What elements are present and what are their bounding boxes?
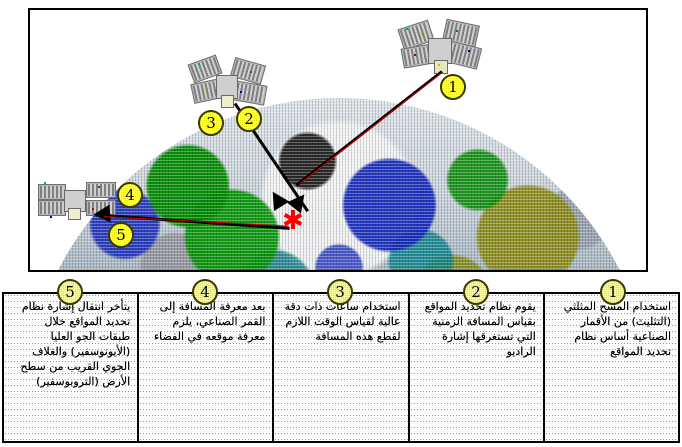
callout-5[interactable]: 5 bbox=[108, 222, 134, 248]
step-cell-5: يتأخر انتقال إشارة نظام تحديد المواقع خل… bbox=[4, 294, 137, 441]
step-text-4: بعد معرفة المسافة إلى القمر الصناعي، يلز… bbox=[146, 299, 265, 344]
step-text-3: استخدام ساعات ذات دقة عالية لقياس الوقت … bbox=[281, 299, 400, 344]
step-text-1: استخدام المسح المثلثي (التثليث) من الأقم… bbox=[552, 299, 671, 359]
callout-1[interactable]: 1 bbox=[440, 74, 466, 100]
column-callout-5[interactable]: 5 bbox=[57, 279, 83, 305]
diagram-root: ✱ 1 2 3 4 5 5 4 3 2 1 يتأخر انتقال إشارة… bbox=[0, 0, 682, 447]
ground-receiver-marker: ✱ bbox=[282, 208, 304, 234]
step-text-2: يقوم نظام تحديد المواقع بقياس المسافة ال… bbox=[417, 299, 536, 359]
step-text-5: يتأخر انتقال إشارة نظام تحديد المواقع خل… bbox=[11, 299, 130, 389]
column-callout-1[interactable]: 1 bbox=[600, 279, 626, 305]
satellite-2 bbox=[188, 57, 270, 115]
step-cell-1: استخدام المسح المثلثي (التثليث) من الأقم… bbox=[543, 294, 678, 441]
column-callout-3[interactable]: 3 bbox=[327, 279, 353, 305]
callout-3[interactable]: 3 bbox=[198, 110, 224, 136]
step-cell-3: استخدام ساعات ذات دقة عالية لقياس الوقت … bbox=[272, 294, 407, 441]
step-cell-2: يقوم نظام تحديد المواقع بقياس المسافة ال… bbox=[408, 294, 543, 441]
step-cell-4: بعد معرفة المسافة إلى القمر الصناعي، يلز… bbox=[137, 294, 272, 441]
arrow-head-3 bbox=[93, 205, 111, 224]
callout-4[interactable]: 4 bbox=[117, 182, 143, 208]
callout-2[interactable]: 2 bbox=[236, 106, 262, 132]
steps-table: يتأخر انتقال إشارة نظام تحديد المواقع خل… bbox=[2, 292, 680, 443]
column-callout-4[interactable]: 4 bbox=[192, 279, 218, 305]
column-callout-2[interactable]: 2 bbox=[463, 279, 489, 305]
